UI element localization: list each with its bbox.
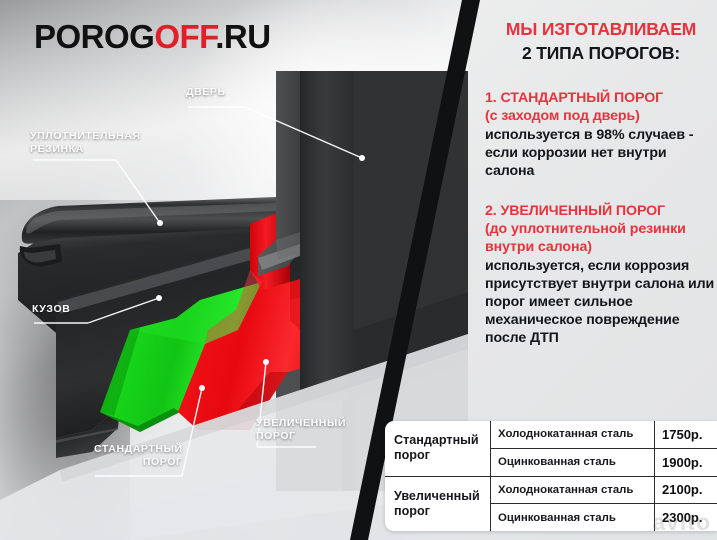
info-block-standard-subtitle: (с заходом под дверь) bbox=[485, 108, 717, 126]
table-row: Холоднокатанная сталь 2100р. bbox=[490, 476, 717, 504]
panel-heading-black: 2 ТИПА ПОРОГОВ: bbox=[485, 43, 717, 64]
price-row-price: 1750р. bbox=[654, 421, 717, 448]
panel-heading-red: МЫ ИЗГОТАВЛИВАЕМ bbox=[485, 19, 717, 40]
price-table-category-standard: Стандартный порог bbox=[385, 421, 490, 477]
price-row-price: 2100р. bbox=[654, 477, 717, 504]
price-row-material: Оцинкованная сталь bbox=[491, 512, 654, 524]
table-row: Оцинкованная сталь 2300р. bbox=[490, 503, 717, 531]
info-block-standard-title: 1. СТАНДАРТНЫЙ ПОРОГ bbox=[485, 90, 717, 108]
callout-label-extended: УВЕЛИЧЕННЫЙ ПОРОГ bbox=[256, 417, 346, 443]
logo-part-off: OFF bbox=[154, 18, 215, 55]
info-block-extended-title: 2. УВЕЛИЧЕННЫЙ ПОРОГ bbox=[485, 203, 717, 221]
table-row: Холоднокатанная сталь 1750р. bbox=[490, 421, 717, 448]
callout-label-seal: УПЛОТНИТЕЛЬНАЯ РЕЗИНКА bbox=[30, 130, 141, 156]
table-row: Оцинкованная сталь 1900р. bbox=[490, 448, 717, 476]
poster: ДВЕРЬ УПЛОТНИТЕЛЬНАЯ РЕЗИНКА КУЗОВ СТАНД… bbox=[0, 0, 717, 540]
info-block-extended-subtitle: (до уплотнительной резинки внутри салона… bbox=[485, 221, 717, 257]
info-block-standard-body: используется в 98% случаев - если корроз… bbox=[485, 126, 717, 180]
price-table-categories: Стандартный порог Увеличенный порог bbox=[385, 421, 490, 531]
price-table: Стандартный порог Увеличенный порог Холо… bbox=[385, 421, 717, 531]
price-row-material: Холоднокатанная сталь bbox=[491, 428, 654, 440]
info-block-standard: 1. СТАНДАРТНЫЙ ПОРОГ (с заходом под двер… bbox=[485, 90, 717, 180]
callout-label-door: ДВЕРЬ bbox=[186, 86, 226, 99]
price-row-price: 2300р. bbox=[654, 504, 717, 531]
price-table-category-extended: Увеличенный порог bbox=[385, 477, 490, 532]
callout-label-body: КУЗОВ bbox=[32, 303, 70, 316]
info-block-extended: 2. УВЕЛИЧЕННЫЙ ПОРОГ (до уплотнительной … bbox=[485, 203, 717, 347]
price-row-price: 1900р. bbox=[654, 449, 717, 476]
logo-part-porog: POROG bbox=[34, 18, 154, 55]
info-block-extended-body: используется, если коррозия присутствует… bbox=[485, 257, 717, 347]
price-table-rows: Холоднокатанная сталь 1750р. Оцинкованна… bbox=[490, 421, 717, 531]
callout-label-standard: СТАНДАРТНЫЙ ПОРОГ bbox=[94, 443, 183, 469]
logo-part-ru: .RU bbox=[215, 18, 270, 55]
price-row-material: Оцинкованная сталь bbox=[491, 456, 654, 468]
price-row-material: Холоднокатанная сталь bbox=[491, 484, 654, 496]
site-logo: POROGOFF.RU bbox=[34, 18, 271, 56]
